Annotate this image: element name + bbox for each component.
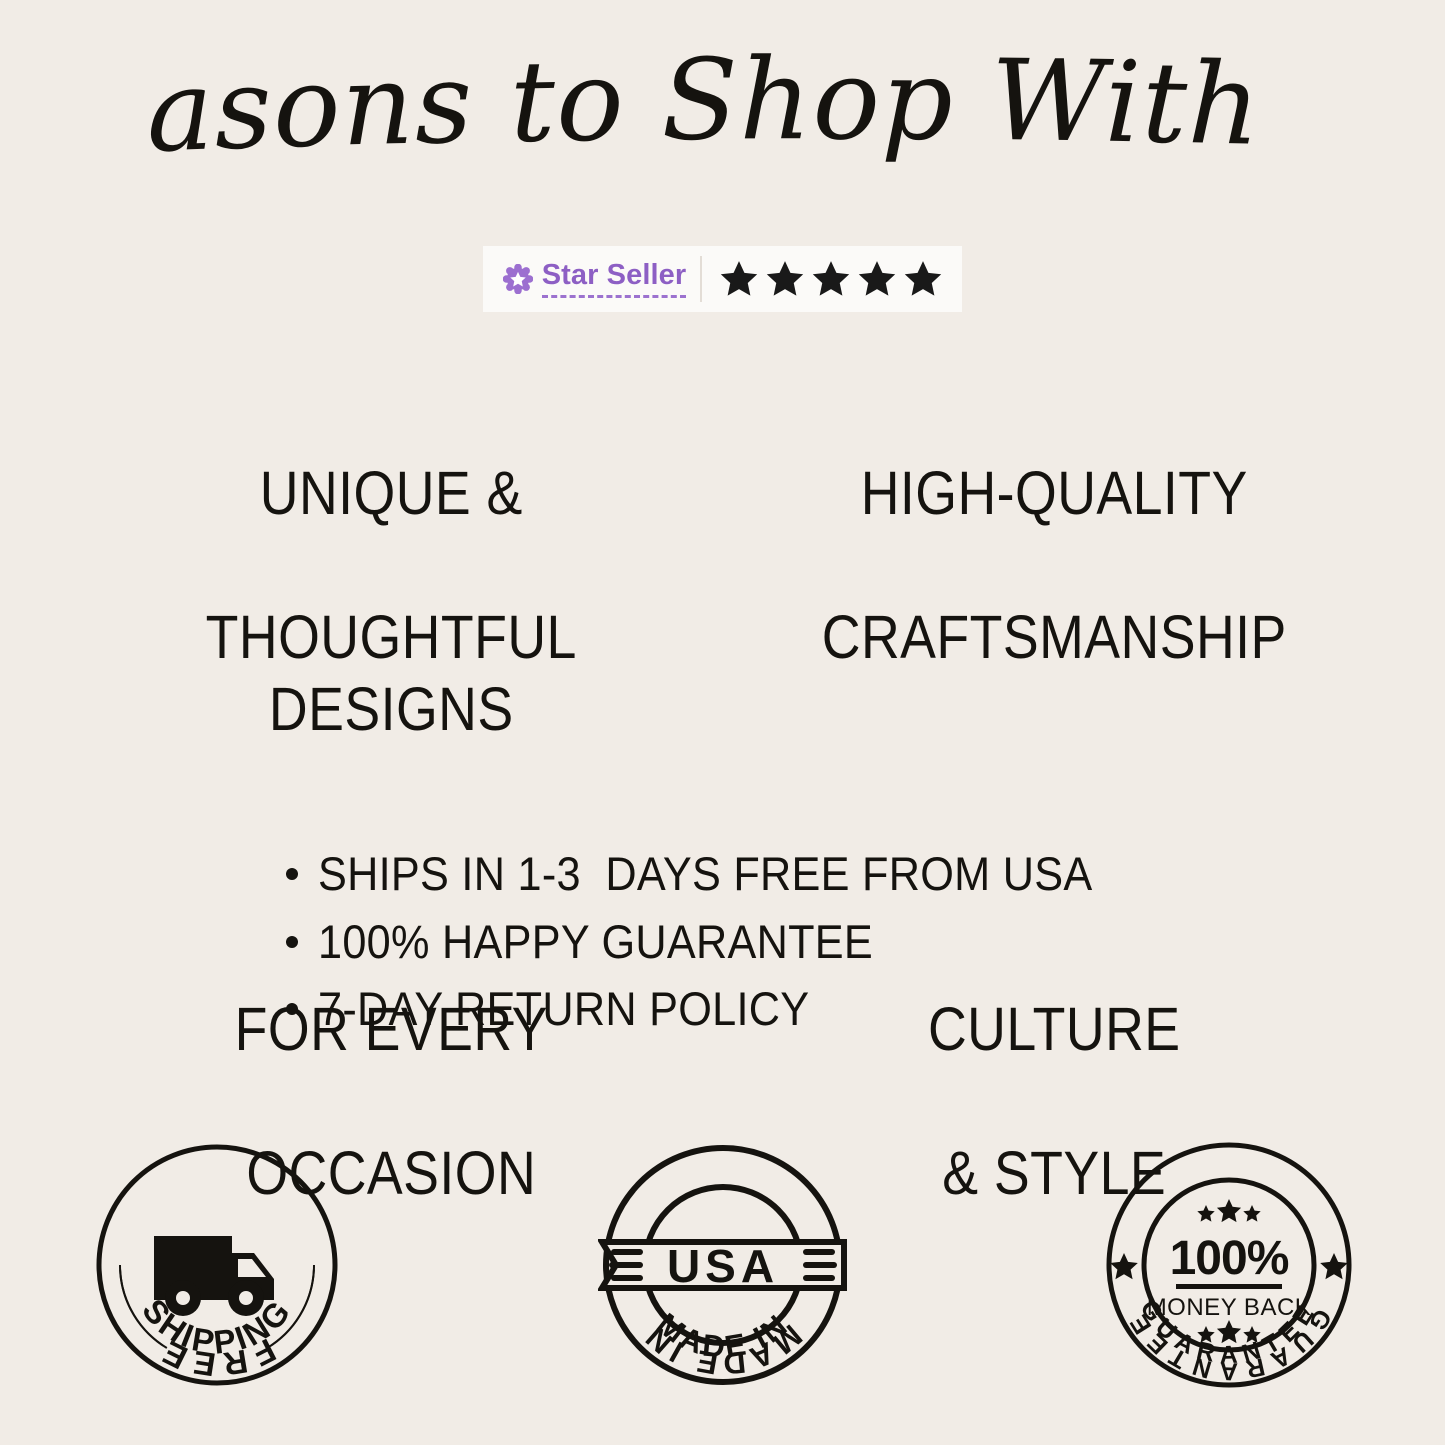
- benefit-return-policy: 7-DAY RETURN POLICY: [318, 983, 809, 1035]
- svg-text:Reasons to Shop With Us: Reasons to Shop With Us: [123, 33, 1300, 178]
- star-row-top: [1197, 1199, 1260, 1222]
- benefit-happy-guarantee: 100% HAPPY GUARANTEE: [318, 916, 873, 968]
- star-seller-badge-wrap: Star Seller: [0, 246, 1445, 312]
- star-seller-left: Star Seller: [483, 246, 701, 312]
- star-seller-rating: [702, 258, 962, 300]
- benefit-shipping-time: SHIPS IN 1-3 DAYS FREE FROM USA: [318, 848, 1092, 900]
- money-back-guarantee-badge: GUARANTEE GUARANTEE 100% MONEY BACK: [1104, 1140, 1354, 1390]
- page-title-text: Reasons to Shop With Us: [123, 33, 1300, 178]
- side-star-left-icon: [1110, 1253, 1138, 1279]
- badge-percent-value: 100%: [1169, 1232, 1288, 1285]
- feature-line: CRAFTSMANSHIP: [762, 602, 1345, 674]
- trust-badge-row: FREE SHIPPING MADE IN MADE IN: [0, 1130, 1445, 1400]
- star-icon: [856, 258, 898, 300]
- benefits-list: SHIPS IN 1-3 DAYS FREE FROM USA 100% HAP…: [0, 848, 1445, 1051]
- bullet-dot-icon: [286, 1003, 298, 1015]
- free-shipping-badge: FREE SHIPPING: [92, 1140, 342, 1390]
- page-title: Reasons to Shop With Us: [0, 28, 1445, 208]
- badge-text-center: USA: [666, 1240, 778, 1292]
- bullet-dot-icon: [286, 936, 298, 948]
- feature-unique-thoughtful-designs: UNIQUE & THOUGHTFUL DESIGNS: [100, 386, 683, 818]
- bullet-dot-icon: [286, 868, 298, 880]
- star-icon: [764, 258, 806, 300]
- feature-line: HIGH-QUALITY: [762, 458, 1345, 530]
- star-seller-badge: Star Seller: [483, 246, 963, 312]
- list-item: SHIPS IN 1-3 DAYS FREE FROM USA: [286, 848, 1160, 900]
- list-item: 7-DAY RETURN POLICY: [286, 983, 1160, 1035]
- made-in-usa-badge: MADE IN MADE IN USA: [598, 1140, 848, 1390]
- star-icon: [810, 258, 852, 300]
- badge-divider: [1176, 1284, 1282, 1289]
- star-row-bottom: [1197, 1320, 1260, 1343]
- badge-text-sub: MONEY BACK: [1146, 1294, 1311, 1321]
- star-icon: [902, 258, 944, 300]
- feature-high-quality-craftsmanship: HIGH-QUALITY CRAFTSMANSHIP: [762, 386, 1345, 818]
- star-icon: [718, 258, 760, 300]
- delivery-truck-icon: [154, 1236, 274, 1316]
- side-star-right-icon: [1320, 1253, 1348, 1279]
- star-seller-rosette-icon: [503, 264, 533, 294]
- feature-line: THOUGHTFUL DESIGNS: [100, 602, 683, 746]
- feature-line: UNIQUE &: [100, 458, 683, 530]
- list-item: 100% HAPPY GUARANTEE: [286, 916, 1160, 968]
- star-seller-label: Star Seller: [542, 261, 687, 298]
- page-title-script: Reasons to Shop With Us: [123, 33, 1323, 203]
